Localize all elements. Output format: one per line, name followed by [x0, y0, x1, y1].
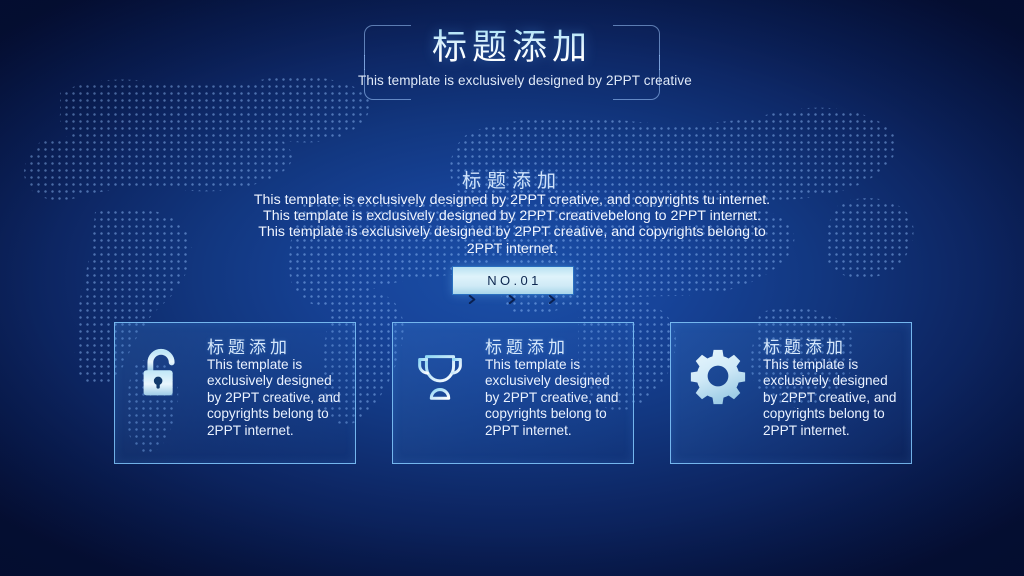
- page-subtitle: This template is exclusively designed by…: [358, 73, 666, 88]
- chevron-right-icon: [548, 295, 557, 304]
- trophy-icon: [409, 345, 471, 407]
- page-title: 标题添加: [364, 26, 660, 70]
- card-body: This template is exclusively designed by…: [207, 357, 349, 439]
- card-body: This template is exclusively designed by…: [485, 357, 627, 439]
- feature-card-2[interactable]: 标题添加 This template is exclusively design…: [392, 322, 634, 464]
- badge-label: NO.01: [484, 273, 542, 288]
- paragraph-line: This template is exclusively designed by…: [232, 192, 792, 208]
- feature-card-3[interactable]: 标题添加 This template is exclusively design…: [670, 322, 912, 464]
- section-number-badge[interactable]: NO.01: [452, 266, 574, 295]
- feature-card-1[interactable]: 标题添加 This template is exclusively design…: [114, 322, 356, 464]
- chevron-row: [452, 292, 572, 306]
- card-title: 标题添加: [207, 333, 291, 358]
- title-frame: 标题添加 This template is exclusively design…: [364, 25, 660, 100]
- card-title: 标题添加: [763, 333, 847, 358]
- card-body: This template is exclusively designed by…: [763, 357, 905, 439]
- slide-root: 标题添加 This template is exclusively design…: [0, 0, 1024, 576]
- chevron-right-icon: [468, 295, 477, 304]
- paragraph-line: This template is exclusively designed by…: [232, 224, 792, 240]
- card-title: 标题添加: [485, 333, 569, 358]
- paragraph-line: 2PPT internet.: [232, 241, 792, 257]
- chevron-right-icon: [508, 295, 517, 304]
- section-paragraph: This template is exclusively designed by…: [232, 192, 792, 257]
- section-heading: 标题添加: [0, 166, 1024, 193]
- unlock-icon: [131, 345, 193, 407]
- gear-icon: [687, 345, 749, 407]
- paragraph-line: This template is exclusively designed by…: [232, 208, 792, 224]
